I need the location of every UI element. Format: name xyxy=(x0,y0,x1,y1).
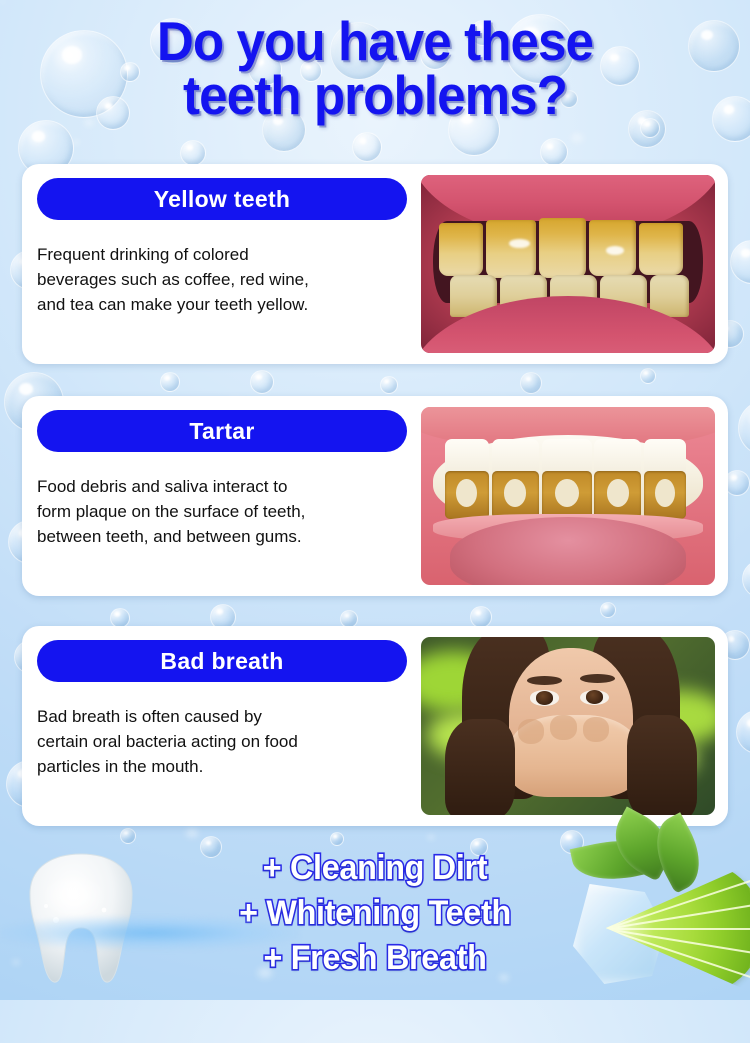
problem-card-bad-breath: Bad breath Bad breath is often caused by… xyxy=(22,626,728,826)
card-title-pill: Yellow teeth xyxy=(37,178,407,220)
yellow-teeth-photo xyxy=(421,175,715,353)
card-title-pill: Tartar xyxy=(37,410,407,452)
card-title-pill: Bad breath xyxy=(37,640,407,682)
page-title: Do you have these teeth problems? xyxy=(26,14,724,123)
card-body-text: Food debris and saliva interact to form … xyxy=(37,474,419,549)
card-title: Yellow teeth xyxy=(154,186,291,213)
headline-line-1: Do you have these xyxy=(157,10,593,72)
tartar-photo xyxy=(421,407,715,585)
card-body-text: Frequent drinking of colored beverages s… xyxy=(37,242,419,317)
problem-card-yellow-teeth: Yellow teeth Frequent drinking of colore… xyxy=(22,164,728,364)
card-title: Bad breath xyxy=(160,648,283,675)
problem-card-tartar: Tartar Food debris and saliva interact t… xyxy=(22,396,728,596)
lime-mint-ice-decoration xyxy=(565,822,750,1000)
card-body-text: Bad breath is often caused by certain or… xyxy=(37,704,419,779)
headline-line-2: teeth problems? xyxy=(26,68,724,122)
tooth-sparkle-swoosh xyxy=(0,916,300,950)
card-title: Tartar xyxy=(189,418,254,445)
bad-breath-photo xyxy=(421,637,715,815)
